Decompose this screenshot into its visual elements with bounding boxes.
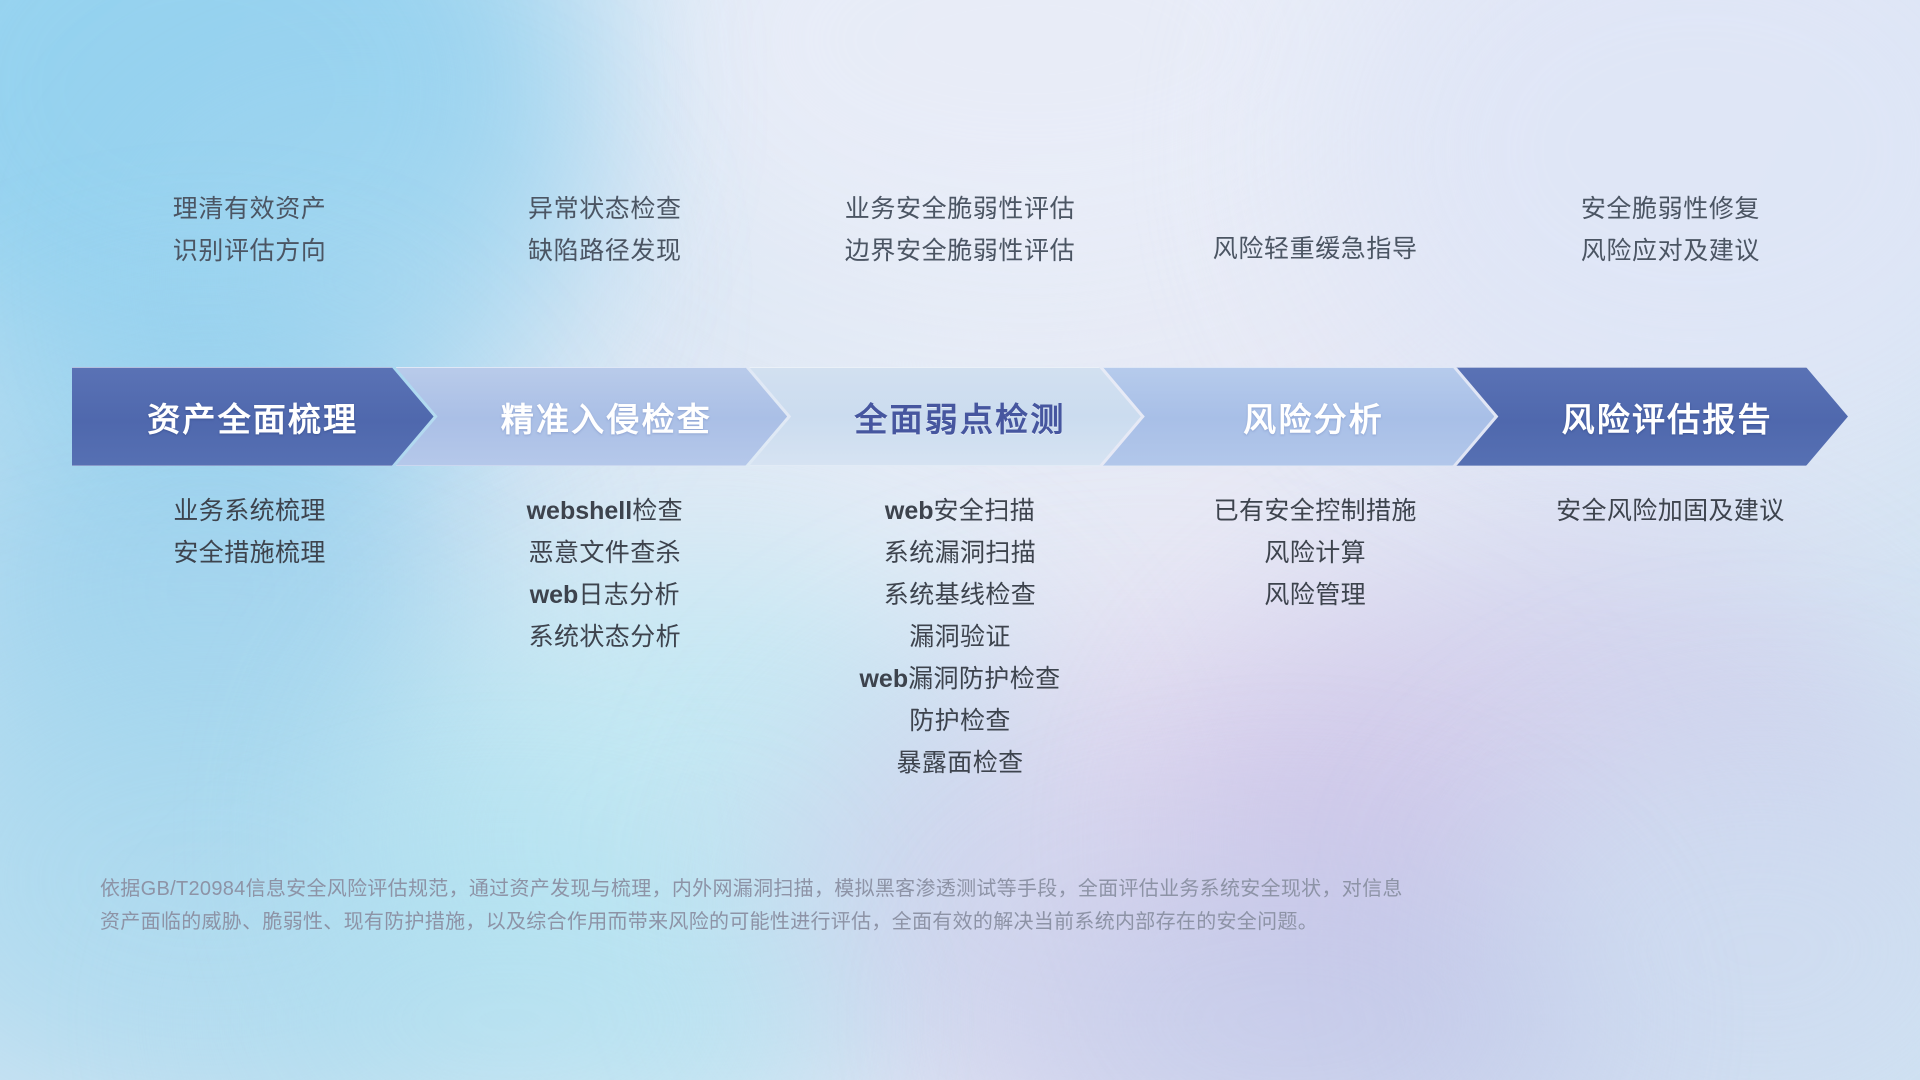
- details-weakness-detection: web安全扫描 系统漏洞扫描 系统基线检查 漏洞验证 web漏洞防护检查 防护检…: [782, 498, 1137, 777]
- top-captions-asset-inventory: 理清有效资产 识别评估方向: [72, 196, 427, 306]
- top-captions-risk-report: 安全脆弱性修复 风险应对及建议: [1493, 196, 1848, 306]
- top-captions-risk-analysis: 风险轻重缓急指导: [1138, 196, 1493, 306]
- details-risk-report: 安全风险加固及建议: [1493, 498, 1848, 525]
- detail-item-cjk: 暴露面检查: [897, 749, 1024, 777]
- detail-item-cjk: 安全扫描: [934, 497, 1036, 525]
- detail-item: 风险管理: [1264, 582, 1366, 609]
- chevron-stage-weakness-detection[interactable]: 全面弱点检测: [749, 367, 1141, 466]
- caption-line: 理清有效资产: [173, 196, 327, 222]
- caption-line: 业务安全脆弱性评估: [845, 196, 1075, 222]
- details-intrusion-check: webshell检查 恶意文件查杀 web日志分析 系统状态分析: [427, 498, 782, 651]
- detail-item-latin: web: [530, 581, 579, 609]
- footer-line: 依据GB/T20984信息安全风险评估规范，通过资产发现与梳理，内外网漏洞扫描，…: [100, 873, 1600, 906]
- detail-item: 系统状态分析: [529, 624, 681, 651]
- chevron-label: 风险评估报告: [1562, 393, 1773, 441]
- detail-item: 风险计算: [1264, 540, 1366, 567]
- detail-item-cjk: 业务系统梳理: [173, 497, 325, 525]
- detail-item: 已有安全控制措施: [1214, 498, 1417, 525]
- detail-item-cjk: 安全措施梳理: [173, 539, 325, 567]
- detail-item: 暴露面检查: [897, 750, 1024, 777]
- footer-description: 依据GB/T20984信息安全风险评估规范，通过资产发现与梳理，内外网漏洞扫描，…: [100, 873, 1600, 939]
- process-chevron-band: 资产全面梳理 精准入侵检查 全面弱点检测 风险分析 风险评估报告: [72, 367, 1848, 466]
- detail-item-cjk: 恶意文件查杀: [529, 539, 681, 567]
- chevron-label: 全面弱点检测: [854, 393, 1065, 441]
- detail-item: web日志分析: [530, 582, 680, 609]
- detail-item-cjk: 系统基线检查: [884, 581, 1036, 609]
- detail-item: 业务系统梳理: [173, 498, 325, 525]
- detail-item: 安全措施梳理: [173, 540, 325, 567]
- detail-item-latin: web: [859, 665, 908, 693]
- chevron-stage-risk-analysis[interactable]: 风险分析: [1103, 367, 1495, 466]
- detail-item-cjk: 防护检查: [909, 707, 1011, 735]
- detail-item: 恶意文件查杀: [529, 540, 681, 567]
- caption-line: 识别评估方向: [173, 238, 327, 264]
- detail-item: 系统基线检查: [884, 582, 1036, 609]
- detail-item: 系统漏洞扫描: [884, 540, 1036, 567]
- detail-item-cjk: 已有安全控制措施: [1214, 497, 1417, 525]
- detail-item: web漏洞防护检查: [859, 666, 1060, 693]
- detail-item-cjk: 系统状态分析: [529, 623, 681, 651]
- detail-item-latin: web: [885, 497, 934, 525]
- detail-item-cjk: 漏洞防护检查: [908, 665, 1060, 693]
- detail-item-cjk: 风险计算: [1264, 539, 1366, 567]
- top-captions-intrusion-check: 异常状态检查 缺陷路径发现: [427, 196, 782, 306]
- detail-item-latin: webshell: [527, 497, 633, 525]
- caption-line: 异常状态检查: [528, 196, 682, 222]
- caption-line: 安全脆弱性修复: [1581, 196, 1760, 222]
- chevron-stage-intrusion-check[interactable]: 精准入侵检查: [396, 367, 788, 466]
- footer-line: 资产面临的威胁、脆弱性、现有防护措施，以及综合作用而带来风险的可能性进行评估，全…: [100, 906, 1600, 939]
- detail-item-cjk: 检查: [632, 497, 683, 525]
- detail-item: 漏洞验证: [909, 624, 1011, 651]
- detail-item-cjk: 系统漏洞扫描: [884, 539, 1036, 567]
- detail-item-cjk: 日志分析: [578, 581, 680, 609]
- detail-item: web安全扫描: [885, 498, 1035, 525]
- detail-item: webshell检查: [527, 498, 683, 525]
- chevron-label: 风险分析: [1243, 393, 1384, 441]
- details-risk-analysis: 已有安全控制措施 风险计算 风险管理: [1138, 498, 1493, 609]
- detail-item: 安全风险加固及建议: [1556, 498, 1785, 525]
- caption-line: 缺陷路径发现: [528, 238, 682, 264]
- chevron-label: 精准入侵检查: [501, 393, 712, 441]
- chevron-label: 资产全面梳理: [147, 393, 358, 441]
- chevron-stage-risk-report[interactable]: 风险评估报告: [1456, 367, 1848, 466]
- top-captions-row: 理清有效资产 识别评估方向 异常状态检查 缺陷路径发现 业务安全脆弱性评估 边界…: [72, 196, 1848, 306]
- detail-item-cjk: 安全风险加固及建议: [1556, 497, 1785, 525]
- top-captions-weakness-detection: 业务安全脆弱性评估 边界安全脆弱性评估: [782, 196, 1137, 306]
- stage-details-row: 业务系统梳理 安全措施梳理 webshell检查 恶意文件查杀 web日志分析 …: [72, 498, 1848, 777]
- chevron-stage-asset-inventory[interactable]: 资产全面梳理: [72, 367, 434, 466]
- caption-line: 边界安全脆弱性评估: [845, 238, 1075, 264]
- detail-item-cjk: 风险管理: [1264, 581, 1366, 609]
- detail-item-cjk: 漏洞验证: [909, 623, 1011, 651]
- detail-item: 防护检查: [909, 708, 1011, 735]
- caption-line: 风险轻重缓急指导: [1213, 236, 1418, 262]
- caption-line: 风险应对及建议: [1581, 238, 1760, 264]
- details-asset-inventory: 业务系统梳理 安全措施梳理: [72, 498, 427, 567]
